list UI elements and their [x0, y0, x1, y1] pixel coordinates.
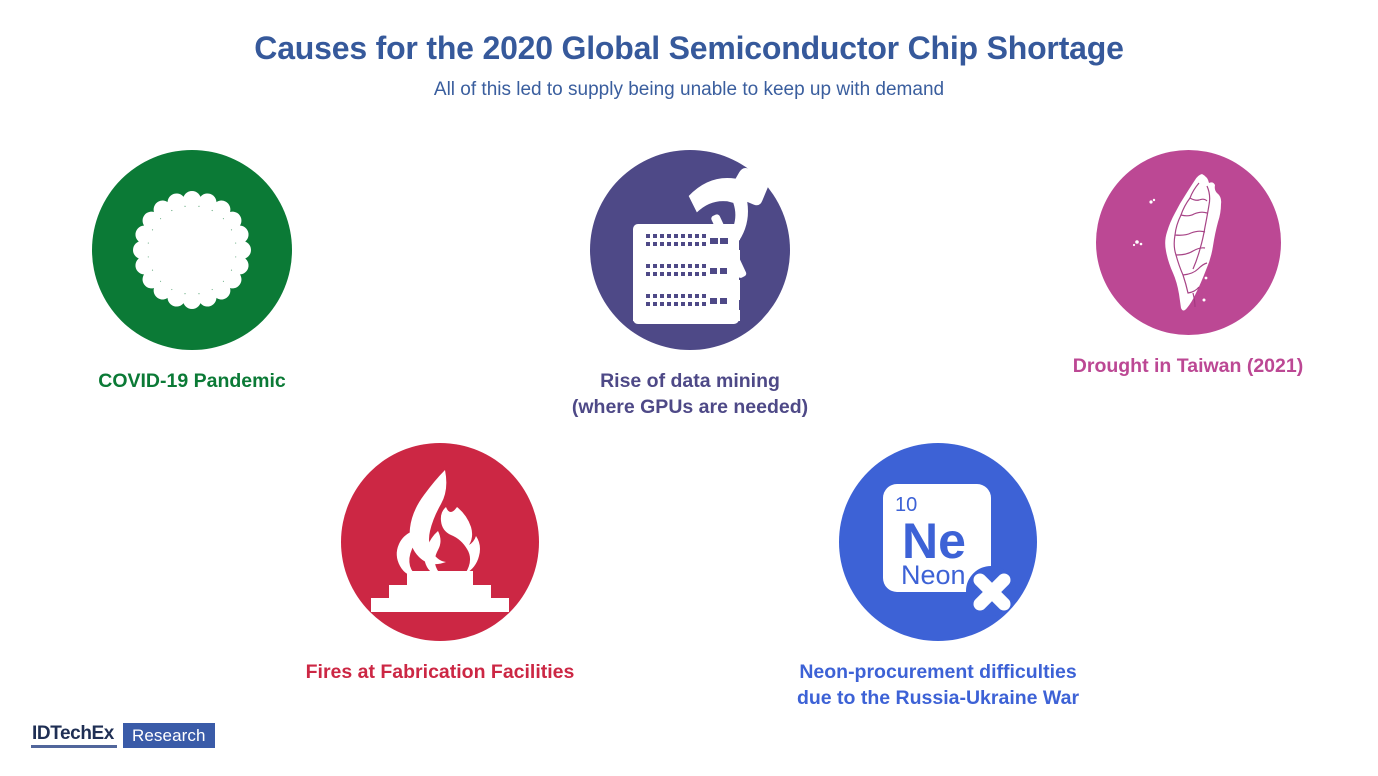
neon-tile-glyph: 10 Ne Neon: [839, 443, 1037, 641]
fire-glyph: [341, 443, 539, 641]
cause-card-covid[interactable]: COVID-19 Pandemic: [42, 150, 342, 394]
idtechex-logo[interactable]: IDTechEx Research: [31, 723, 215, 748]
cause-card-data-mining[interactable]: Rise of data mining (where GPUs are need…: [540, 150, 840, 421]
neon-name: Neon: [901, 560, 966, 590]
logo-research-badge: Research: [123, 723, 215, 748]
cause-card-fires[interactable]: Fires at Fabrication Facilities: [290, 443, 590, 685]
cause-label-fires: Fires at Fabrication Facilities: [290, 659, 590, 685]
cause-label-covid: COVID-19 Pandemic: [42, 368, 342, 394]
cross-icon: [980, 580, 1004, 604]
taiwan-map-glyph: [1096, 150, 1281, 335]
cause-card-neon[interactable]: 10 Ne Neon Neon-procurement difficulties…: [788, 443, 1088, 712]
page-subtitle: All of this led to supply being unable t…: [0, 78, 1378, 103]
logo-wordmark: IDTechEx: [31, 723, 117, 748]
coronavirus-icon: [92, 150, 292, 350]
coronavirus-glyph: [92, 150, 292, 350]
fire-icon: [341, 443, 539, 641]
neon-element-blocked-icon: 10 Ne Neon: [839, 443, 1037, 641]
taiwan-map-icon: [1096, 150, 1281, 335]
header: Causes for the 2020 Global Semiconductor…: [0, 28, 1378, 103]
cause-card-taiwan-drought[interactable]: Drought in Taiwan (2021): [1038, 150, 1338, 379]
cause-label-neon: Neon-procurement difficulties due to the…: [788, 659, 1088, 712]
server-pickaxe-glyph: [590, 150, 790, 350]
cause-label-data-mining: Rise of data mining (where GPUs are need…: [540, 368, 840, 421]
page-title: Causes for the 2020 Global Semiconductor…: [0, 28, 1378, 68]
cause-label-taiwan-drought: Drought in Taiwan (2021): [1038, 353, 1338, 379]
server-rack-pickaxe-icon: [590, 150, 790, 350]
